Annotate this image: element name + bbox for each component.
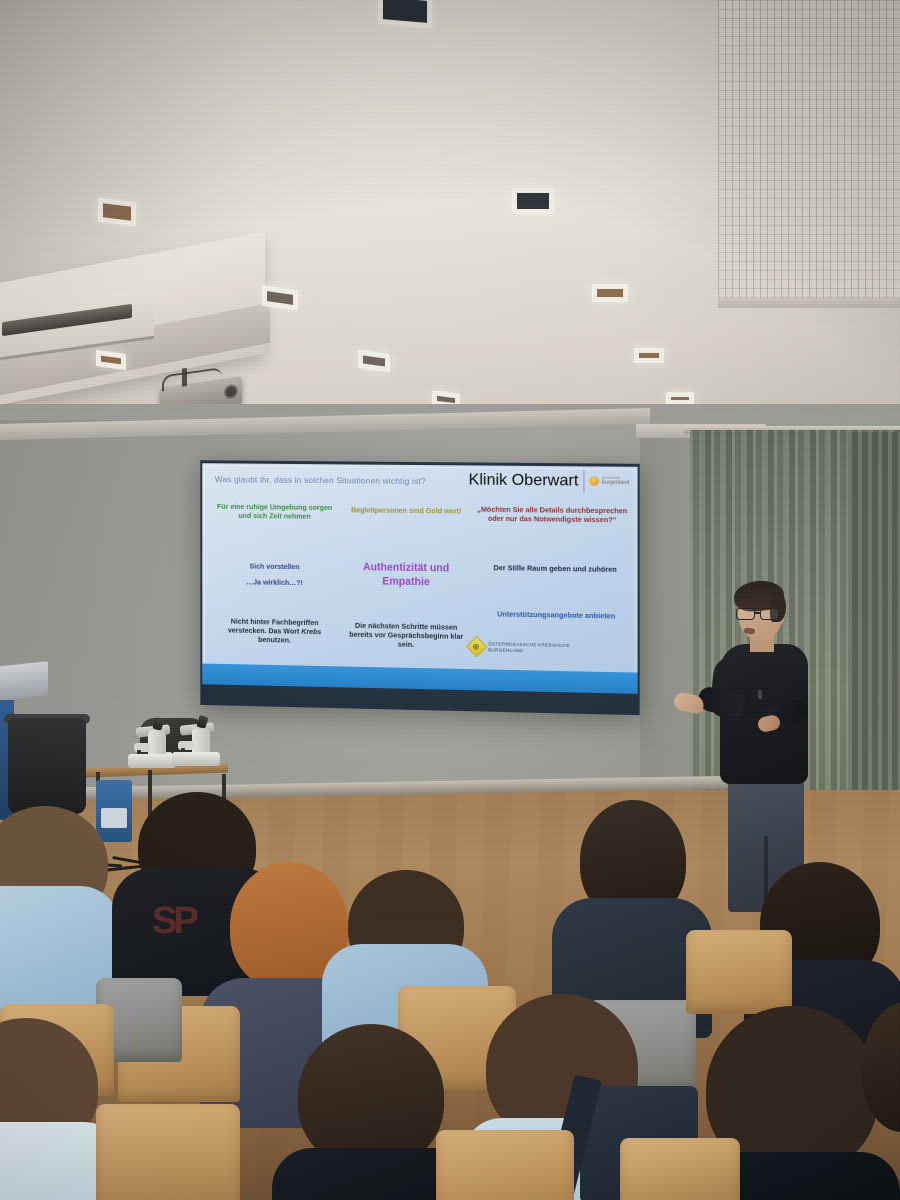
- burgenland-logo: gesundheit burgenland: [590, 477, 630, 487]
- glasses-left-lens: [736, 608, 755, 620]
- microscope-base: [172, 752, 220, 766]
- klinik-oberwart-logo: Klinik Oberwart: [469, 472, 579, 489]
- slide-point-naechste-schritte: Die nächsten Schritte müssen bereits vor…: [347, 622, 465, 651]
- ceiling-spotlight: [98, 198, 136, 227]
- slide-point-begleitpersonen: Begleitpersonen sind Gold wert!: [347, 506, 465, 516]
- chair[interactable]: [686, 930, 792, 1014]
- krebshilfe-logo-text: ÖSTERREICHISCHE KREBSHILFE BURGENLAND: [488, 641, 570, 654]
- projection-screen: Was glaubt ihr, dass in solchen Situatio…: [200, 460, 639, 715]
- glasses-right-lens: [760, 608, 779, 620]
- presentation-slide: Was glaubt ihr, dass in solchen Situatio…: [202, 463, 637, 694]
- microscope-base: [128, 754, 176, 768]
- slide-point-ja-wirklich: …Ja wirklich…?!: [220, 578, 330, 588]
- slide-point-unterstuetzungsangebote: Unterstützungsangebote anbieten: [489, 610, 623, 621]
- slide-point-details-frage: „Möchten Sie alle Details durchbespreche…: [475, 506, 629, 525]
- ceiling-spotlight: [512, 188, 554, 214]
- chair[interactable]: [96, 1104, 240, 1200]
- lecture-hall-photo: Was glaubt ihr, dass in solchen Situatio…: [0, 0, 900, 1200]
- acoustic-panel-edge: [718, 298, 900, 308]
- ceiling-spotlight: [592, 284, 628, 302]
- chair[interactable]: [436, 1130, 574, 1200]
- slide-point-ruhige-umgebung: Für eine ruhige Umgebung sorgen und sich…: [216, 503, 334, 522]
- projector-lens: [224, 384, 238, 400]
- presenter-mouth: [744, 627, 756, 634]
- burgenland-logo-main: burgenland: [602, 480, 630, 486]
- slide-point-sich-vorstellen: Sich vorstellen: [220, 562, 330, 572]
- equipment-case: [96, 780, 132, 842]
- slide-question: Was glaubt ihr, dass in solchen Situatio…: [215, 474, 482, 486]
- laptop: [0, 661, 48, 700]
- glasses-icon: [736, 608, 782, 620]
- slide-point-nicht-hinter-fachbegriffen: Nicht hinter Fachbegriffen verstecken. D…: [220, 617, 330, 645]
- audience-head: [298, 1024, 444, 1168]
- microscope: [128, 712, 178, 768]
- presenter-sweater-logo: [758, 690, 762, 699]
- klinik-logo-line1: Klinik: [469, 471, 508, 488]
- waste-bin: [8, 718, 86, 814]
- chair[interactable]: [620, 1138, 740, 1200]
- slide-content-grid: Für eine ruhige Umgebung sorgen und sich…: [210, 503, 634, 680]
- krebshilfe-logo: ◎ ÖSTERREICHISCHE KREBSHILFE BURGENLAND: [469, 639, 570, 656]
- slide-logo-group: Klinik Oberwart gesundheit burgenland: [469, 469, 630, 493]
- ceiling-spotlight: [378, 0, 432, 28]
- microscope: [172, 702, 224, 766]
- slide-point-stille-raum: Der Stille Raum geben und zuhören: [491, 564, 619, 575]
- presenter: [676, 586, 836, 906]
- ceiling-spotlight: [634, 348, 664, 363]
- krebs-word: Krebs: [301, 627, 321, 636]
- benutzen-word: benutzen.: [258, 635, 291, 645]
- burgenland-logo-text: gesundheit burgenland: [602, 477, 630, 487]
- acoustic-panel: [718, 0, 900, 300]
- slide-point-authentizitaet: Authentizität und Empathie: [343, 560, 469, 590]
- krebshilfe-diamond-icon: ◎: [466, 636, 487, 657]
- logo-divider: [583, 470, 584, 492]
- krebshilfe-mark-glyph: ◎: [474, 643, 480, 651]
- klinik-logo-line2: Oberwart: [512, 472, 579, 490]
- audience-shirt-print: SP: [152, 900, 195, 943]
- burgenland-sun-icon: [590, 477, 599, 486]
